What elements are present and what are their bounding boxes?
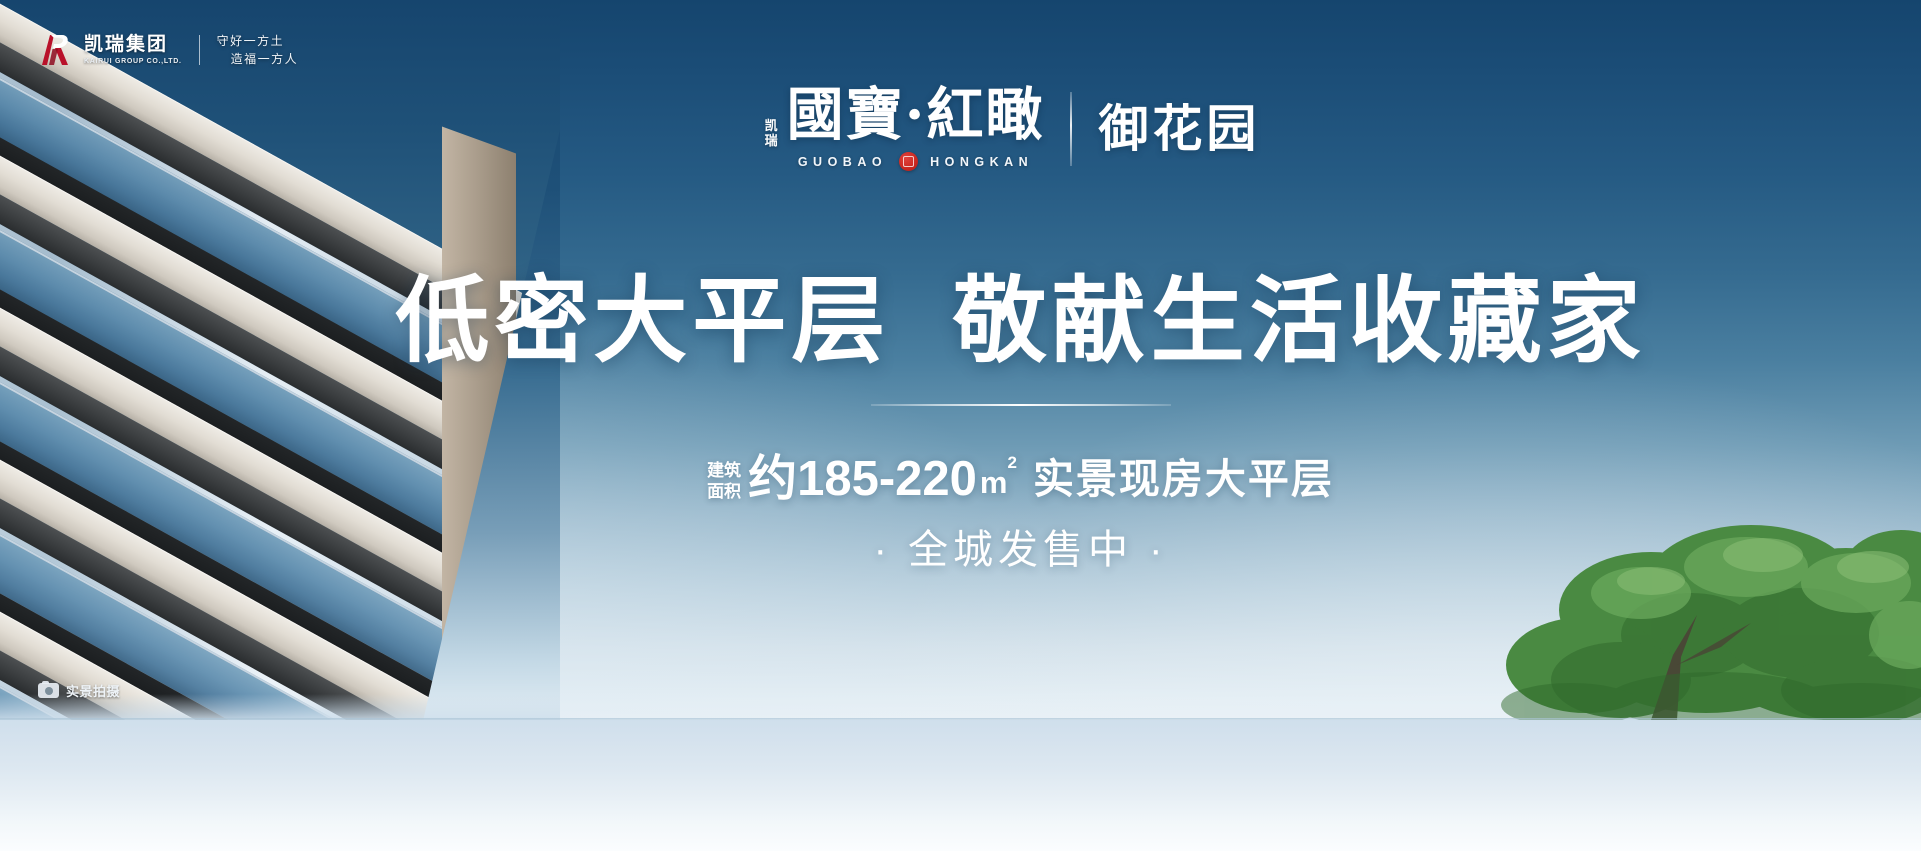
logo-divider: [199, 35, 200, 65]
project-prefix-line1: 凯: [765, 119, 778, 134]
project-pinyin-left: GUOBAO: [798, 155, 887, 169]
divider-line: [871, 404, 1171, 406]
corporate-name-cn: 凯瑞集团: [84, 35, 182, 54]
photo-credit-tag: 实景拍摄: [38, 681, 120, 700]
bottom-light-band: [0, 720, 1921, 851]
subtitle-prefix-line2: 面积: [707, 482, 741, 502]
subtitle-unit-exponent: 2: [1007, 453, 1016, 472]
corporate-slogan-line1: 守好一方土: [217, 34, 299, 49]
subtitle-tail: 实景现房大平层: [1033, 459, 1334, 500]
photo-credit-label: 实景拍摄: [66, 681, 120, 700]
corporate-logo[interactable]: 凯瑞集团 KAIRUI GROUP CO.,LTD. 守好一方土 造福一方人: [40, 33, 298, 67]
headline-divider: [60, 404, 1921, 406]
red-seal-icon: [899, 152, 918, 171]
kairui-r-monogram-icon: [40, 33, 70, 67]
subtitle-area-unit: m2: [980, 467, 1017, 498]
corporate-name-block: 凯瑞集团 KAIRUI GROUP CO.,LTD.: [84, 35, 182, 65]
subtitle-unit-base: m: [980, 465, 1008, 500]
subtitle-prefix: 建筑 面积: [707, 461, 741, 502]
project-name-main: 國寶·紅瞰: [787, 86, 1045, 143]
project-brand-prefix: 凯 瑞: [765, 119, 778, 149]
headline: 低密大平层 敬献生活收藏家: [60, 270, 1921, 372]
project-brand-left: 凯 瑞 國寶·紅瞰 GUOBAO HONGKAN: [765, 86, 1045, 171]
project-pinyin: GUOBAO HONGKAN: [798, 152, 1033, 171]
headline-text: 低密大平层 敬献生活收藏家: [395, 270, 1645, 372]
selling-status-text: · 全城发售中 ·: [874, 530, 1168, 570]
lockup-divider: [1070, 92, 1072, 166]
real-estate-banner: 实景拍摄: [0, 0, 1921, 851]
subtitle-area-number: 约185-220: [748, 455, 977, 504]
corporate-slogan: 守好一方土 造福一方人: [217, 34, 299, 67]
corporate-slogan-line2: 造福一方人: [217, 52, 299, 67]
project-pinyin-right: HONGKAN: [930, 155, 1033, 169]
project-prefix-line2: 瑞: [765, 134, 778, 149]
subtitle: 建筑 面积 约185-220 m2 实景现房大平层: [60, 455, 1921, 504]
project-name-right: 御花园: [1098, 104, 1260, 154]
corporate-name-en: KAIRUI GROUP CO.,LTD.: [84, 58, 182, 65]
project-logo-lockup[interactable]: 凯 瑞 國寶·紅瞰 GUOBAO HONGKAN 御花园: [0, 86, 1921, 171]
subtitle-prefix-line1: 建筑: [707, 461, 741, 481]
selling-status: · 全城发售中 ·: [60, 530, 1921, 570]
camera-icon: [38, 683, 59, 698]
